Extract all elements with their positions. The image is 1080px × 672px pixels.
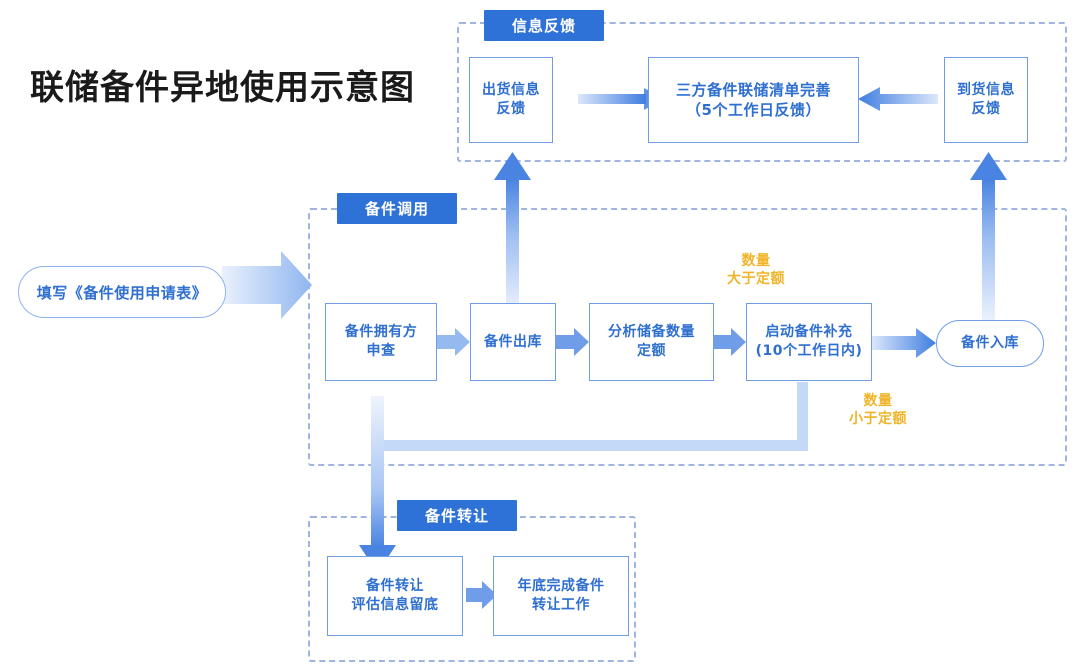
entry-arrow (222, 251, 312, 319)
group-feedback-label: 信息反馈 (484, 10, 604, 41)
diagram-canvas: 联储备件异地使用示意图 (0, 0, 1080, 672)
node-owner-review[interactable]: 备件拥有方 申查 (325, 303, 437, 381)
node-transfer-record[interactable]: 备件转让 评估信息留底 (327, 556, 463, 636)
node-transfer-finish[interactable]: 年底完成备件 转让工作 (493, 556, 629, 636)
node-spare-outbound[interactable]: 备件出库 (470, 303, 556, 381)
group-transfer-label: 备件转让 (397, 500, 517, 531)
note-above-quota: 数量 大于定额 (694, 252, 818, 288)
note-below-quota: 数量 小于定额 (816, 392, 940, 428)
node-analyze-quota[interactable]: 分析储备数量 定额 (589, 303, 714, 381)
node-start-replenish[interactable]: 启动备件补充 (10个工作日内) (746, 303, 872, 381)
group-dispatch-label: 备件调用 (337, 193, 457, 224)
entry-application-form[interactable]: 填写《备件使用申请表》 (18, 266, 226, 318)
page-title: 联储备件异地使用示意图 (30, 60, 415, 109)
node-spare-inbound[interactable]: 备件入库 (936, 320, 1044, 367)
node-consolidated-list[interactable]: 三方备件联储清单完善 （5个工作日反馈） (648, 57, 859, 143)
node-arrival-feedback[interactable]: 到货信息 反馈 (944, 57, 1028, 143)
node-shipping-feedback[interactable]: 出货信息 反馈 (469, 57, 553, 143)
